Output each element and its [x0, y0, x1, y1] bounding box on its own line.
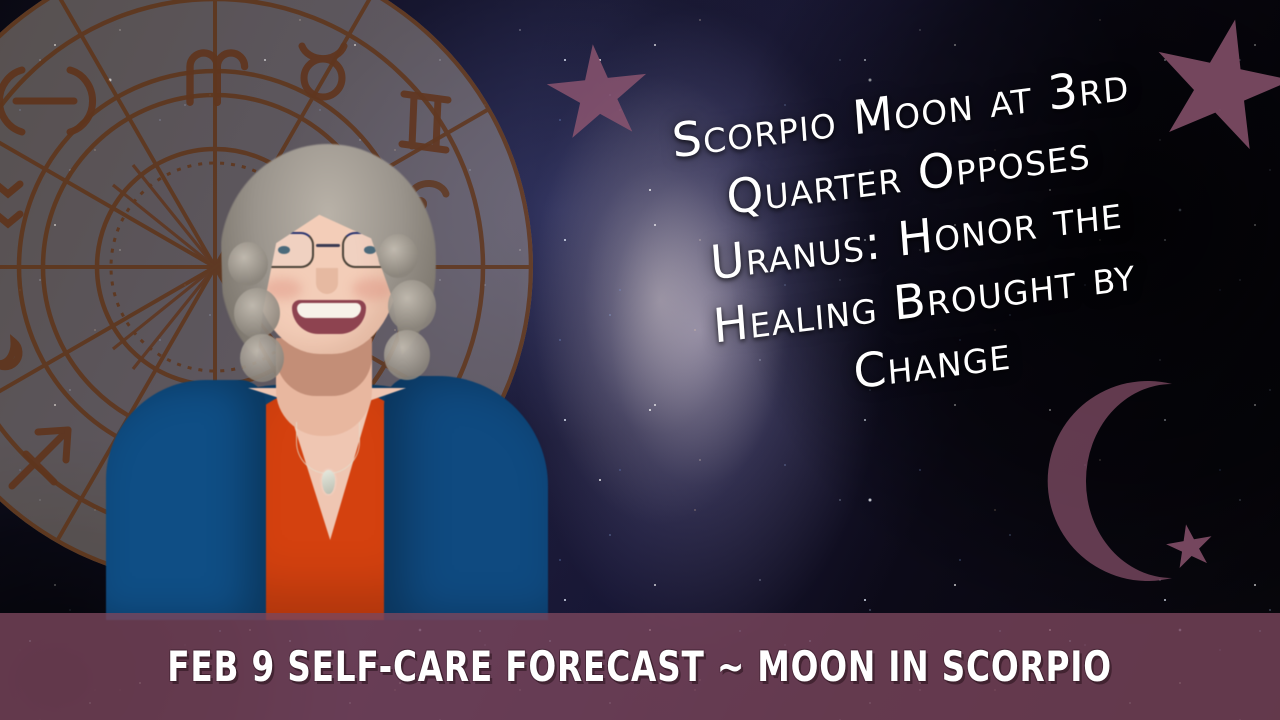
- presenter-hair-curl: [384, 330, 430, 380]
- thumbnail-canvas: Scorpio Moon at 3rd Quarter Opposes Uran…: [0, 0, 1280, 720]
- video-title: Scorpio Moon at 3rd Quarter Opposes Uran…: [574, 49, 1273, 547]
- presenter-hair-curl: [240, 334, 284, 382]
- presenter-teeth: [297, 303, 361, 318]
- glasses-bridge: [316, 244, 340, 247]
- presenter-hair-curl: [378, 234, 418, 278]
- presenter-hair-curl: [388, 280, 436, 332]
- presenter-cheek-right: [352, 278, 392, 300]
- banner-label: FEB 9 SELF-CARE FORECAST ~ MOON IN SCORP…: [168, 642, 1113, 691]
- bottom-banner: FEB 9 SELF-CARE FORECAST ~ MOON IN SCORP…: [0, 613, 1280, 720]
- presenter-mouth: [292, 300, 366, 334]
- presenter-eye-left: [278, 246, 290, 254]
- presenter-cardigan-left: [106, 380, 266, 620]
- presenter-hair-curl: [234, 288, 280, 338]
- presenter-hair-curl: [228, 242, 268, 286]
- presenter-portrait: [88, 122, 558, 620]
- presenter-eye-right: [364, 246, 376, 254]
- presenter-cardigan-right: [384, 376, 548, 620]
